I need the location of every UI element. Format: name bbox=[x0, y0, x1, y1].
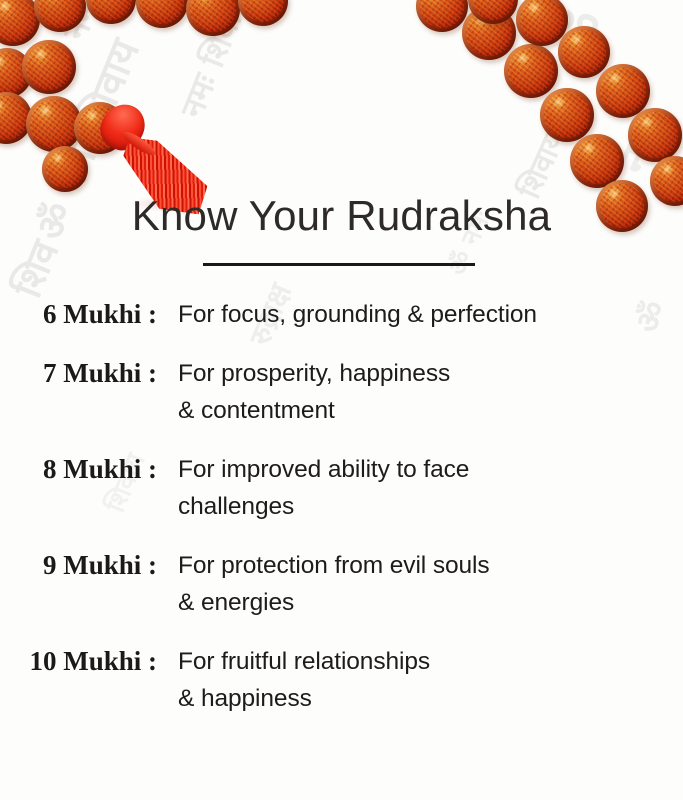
mukhi-description: For prosperity, happiness & contentment bbox=[165, 355, 683, 429]
mukhi-label: 6 Mukhi : bbox=[0, 296, 165, 333]
mukhi-description: For fruitful relationships & happiness bbox=[165, 643, 683, 717]
list-item: 7 Mukhi : For prosperity, happiness & co… bbox=[0, 355, 683, 429]
list-item: 9 Mukhi : For protection from evil souls… bbox=[0, 547, 683, 621]
mukhi-description: For focus, grounding & perfection bbox=[165, 296, 683, 333]
page-title: Know Your Rudraksha bbox=[0, 192, 683, 240]
mukhi-list: 6 Mukhi : For focus, grounding & perfect… bbox=[0, 296, 683, 739]
mukhi-label: 9 Mukhi : bbox=[0, 547, 165, 584]
list-item: 8 Mukhi : For improved ability to face c… bbox=[0, 451, 683, 525]
content-area: Know Your Rudraksha 6 Mukhi : For focus,… bbox=[0, 0, 683, 800]
mukhi-label: 10 Mukhi : bbox=[0, 643, 165, 680]
mukhi-description: For protection from evil souls & energie… bbox=[165, 547, 683, 621]
list-item: 6 Mukhi : For focus, grounding & perfect… bbox=[0, 296, 683, 333]
mukhi-label: 8 Mukhi : bbox=[0, 451, 165, 488]
rudraksha-infographic: ॐ नमः शिवाय शिव ॐ नमः नमः शिवाय रुद्राक्… bbox=[0, 0, 683, 800]
mukhi-description: For improved ability to face challenges bbox=[165, 451, 683, 525]
list-item: 10 Mukhi : For fruitful relationships & … bbox=[0, 643, 683, 717]
mukhi-label: 7 Mukhi : bbox=[0, 355, 165, 392]
title-divider bbox=[203, 263, 475, 266]
